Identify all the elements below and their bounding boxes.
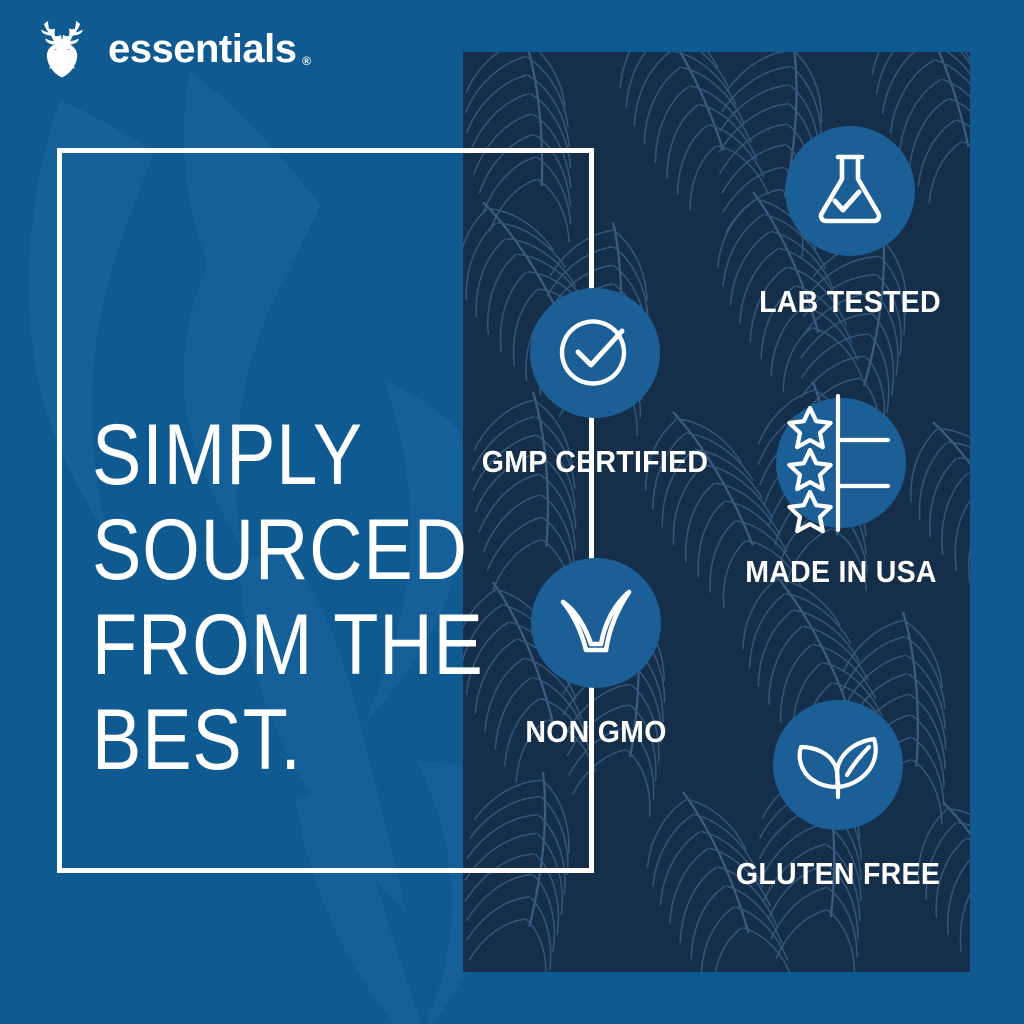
- circle-check-icon: [552, 310, 638, 396]
- badge-gluten-free: GLUTEN FREE: [693, 700, 983, 889]
- badge-label: MADE IN USA: [708, 556, 975, 587]
- page-title: SIMPLY SOURCED FROM THE BEST.: [92, 408, 453, 788]
- promo-graphic-canvas: essentials ®: [0, 0, 1024, 1024]
- lab-flask-check-icon: [808, 149, 892, 233]
- registered-trademark-icon: ®: [302, 55, 310, 67]
- outlined-checkmark-sprout-icon: [553, 580, 639, 666]
- badge-circle: [531, 558, 661, 688]
- badge-label: NON GMO: [463, 716, 730, 747]
- badge-circle: [773, 700, 903, 830]
- headline-line-2: SOURCED: [92, 503, 453, 598]
- headline-line-1: SIMPLY: [92, 408, 453, 503]
- brand-logo[interactable]: essentials ®: [30, 18, 310, 80]
- badge-label: LAB TESTED: [717, 286, 984, 317]
- two-leaves-sprout-icon: [793, 725, 883, 805]
- badge-circle: [785, 126, 915, 256]
- deer-head-antlers-icon: [30, 19, 94, 79]
- badge-lab-tested: LAB TESTED: [705, 126, 995, 317]
- badge-label: GMP CERTIFIED: [462, 446, 729, 477]
- brand-wordmark: essentials ®: [108, 29, 310, 69]
- brand-wordmark-text: essentials: [108, 27, 296, 71]
- badge-circle: [530, 288, 660, 418]
- headline-line-4: BEST.: [92, 693, 453, 788]
- badge-label: GLUTEN FREE: [705, 858, 972, 889]
- usa-flag-stars-stripes-icon: [776, 388, 906, 538]
- headline-line-3: FROM THE: [92, 598, 453, 693]
- badge-circle: [776, 398, 906, 528]
